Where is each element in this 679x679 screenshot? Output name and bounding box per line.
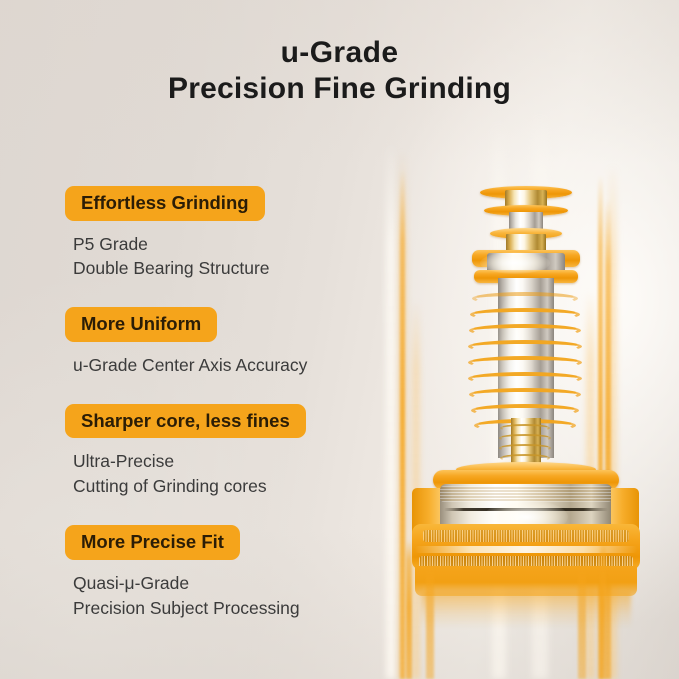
base-streak <box>600 540 606 679</box>
inner-spring-turn <box>499 444 551 452</box>
feature-desc-line: Quasi-μ-Grade <box>73 571 395 596</box>
feature-item: Effortless Grinding P5 Grade Double Bear… <box>65 186 395 281</box>
title-line-2: Precision Fine Grinding <box>0 70 679 108</box>
base-streak <box>578 560 586 679</box>
light-streak <box>400 170 405 679</box>
feature-item: Sharper core, less fines Ultra-Precise C… <box>65 404 395 499</box>
inner-spring-turn <box>500 424 550 432</box>
base-streak <box>406 540 412 679</box>
feature-item: More Uniform u-Grade Center Axis Accurac… <box>65 307 395 377</box>
burr-seam-line <box>444 508 608 511</box>
feature-description: u-Grade Center Axis Accuracy <box>65 353 395 378</box>
spring-coil-turn <box>471 404 579 417</box>
spring-coil-turn <box>470 308 580 321</box>
feature-desc-line: Ultra-Precise <box>73 449 395 474</box>
product-feature-poster: u-Grade Precision Fine Grinding Effortle… <box>0 0 679 679</box>
feature-desc-line: Precision Subject Processing <box>73 596 395 621</box>
feature-badge: More Uniform <box>65 307 217 342</box>
feature-desc-line: Double Bearing Structure <box>73 256 395 281</box>
feature-description: P5 Grade Double Bearing Structure <box>65 232 395 282</box>
feature-badge: More Precise Fit <box>65 525 240 560</box>
knurl-texture-upper <box>423 530 629 542</box>
feature-description: Quasi-μ-Grade Precision Subject Processi… <box>65 571 395 621</box>
inner-spring-turn <box>500 454 550 462</box>
feature-item: More Precise Fit Quasi-μ-Grade Precision… <box>65 525 395 620</box>
inner-spring-turn <box>499 434 551 442</box>
feature-description: Ultra-Precise Cutting of Grinding cores <box>65 449 395 499</box>
feature-list: Effortless Grinding P5 Grade Double Bear… <box>65 186 395 620</box>
spring-coil-turn <box>468 372 582 385</box>
feature-desc-line: P5 Grade <box>73 232 395 257</box>
feature-badge: Sharper core, less fines <box>65 404 306 439</box>
spring-coil-turn <box>469 324 581 337</box>
base-streak <box>426 560 434 679</box>
burr-housing-ridges <box>440 486 612 502</box>
spring-coil-turn <box>468 356 582 369</box>
feature-desc-line: u-Grade Center Axis Accuracy <box>73 353 395 378</box>
spring-coil-turn <box>469 388 581 401</box>
spring-coil-turn <box>472 292 578 305</box>
spring-coil-turn <box>468 340 582 353</box>
title-line-1: u-Grade <box>0 36 679 70</box>
feature-desc-line: Cutting of Grinding cores <box>73 474 395 499</box>
page-title: u-Grade Precision Fine Grinding <box>0 36 679 108</box>
base-bottom-fade <box>421 592 631 628</box>
feature-badge: Effortless Grinding <box>65 186 265 221</box>
